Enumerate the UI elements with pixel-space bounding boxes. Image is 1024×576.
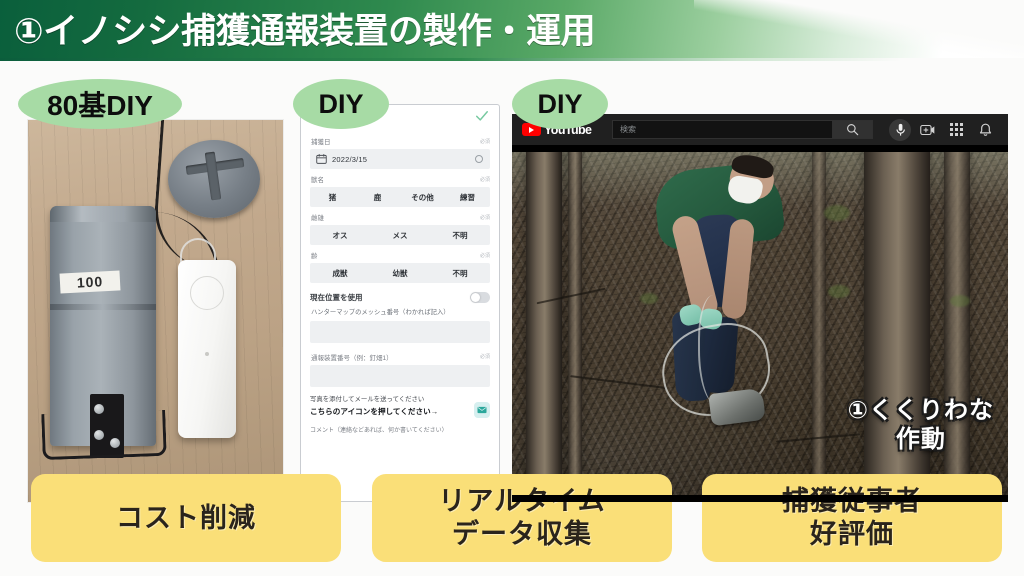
benefit-realtime-line2: データ収集 — [438, 518, 605, 551]
cylinder-rim — [50, 206, 156, 222]
benefits-row: コスト削減 リアルタイム データ収集 捕獲従事者 好評価 — [0, 474, 1024, 566]
page-title: ①イノシシ捕獲通報装置の製作・運用 — [14, 3, 595, 54]
required-note: 必須 — [480, 252, 490, 259]
disc-slot-vertical — [205, 152, 222, 201]
label-text: 齢 — [311, 250, 318, 260]
badge-diy-form: DIY — [293, 79, 389, 129]
mail-icon[interactable] — [474, 402, 490, 418]
search-button[interactable] — [833, 120, 873, 139]
green-sprout — [950, 295, 970, 307]
field-label-sex: 雌雄 必須 — [311, 212, 490, 222]
badge-diy-video: DIY — [512, 79, 608, 129]
mail-glyph — [477, 406, 487, 414]
required-note: 必須 — [480, 176, 490, 183]
benefit-realtime: リアルタイム データ収集 — [372, 474, 672, 562]
video-frame[interactable]: ①くくりわな 作動 — [512, 145, 1008, 502]
benefit-rating-line2: 好評価 — [782, 518, 922, 551]
required-note: 必須 — [480, 138, 490, 145]
species-option-4[interactable]: 練習 — [445, 192, 490, 203]
search-placeholder: 検索 — [620, 124, 636, 135]
youtube-screenshot: YouTube 検索 — [512, 114, 1008, 502]
check-icon[interactable] — [475, 109, 489, 123]
video-caption: ①くくりわな 作動 — [848, 397, 994, 454]
device-number-input[interactable] — [310, 365, 490, 387]
field-label-species: 獣名 必須 — [311, 174, 490, 184]
white-alarm-device — [178, 260, 236, 438]
required-note: 必須 — [480, 214, 490, 221]
create-video-glyph — [920, 124, 935, 136]
grey-disc-part — [168, 140, 260, 218]
age-option-2[interactable]: 幼獣 — [370, 268, 430, 279]
header-underline — [0, 58, 1024, 61]
search-icon — [846, 123, 859, 136]
species-option-2[interactable]: 鹿 — [355, 192, 400, 203]
label-text: 獣名 — [311, 174, 324, 184]
sex-segmented-control[interactable]: オス メス 不明 — [310, 225, 490, 245]
field-label-age: 齢 必須 — [311, 250, 490, 260]
current-location-label: 現在位置を使用 — [310, 292, 363, 303]
video-caption-line2: 作動 — [848, 426, 994, 454]
letterbox-top — [512, 145, 1008, 152]
current-location-toggle[interactable] — [470, 292, 490, 303]
tree-trunk — [526, 145, 562, 488]
bell-icon[interactable] — [972, 119, 998, 141]
capture-date-input[interactable]: 2022/3/15 — [310, 149, 490, 169]
required-note: 必須 — [480, 353, 490, 360]
video-caption-line1: ①くくりわな — [848, 397, 994, 425]
badge-80ki-diy: 80基DIY — [18, 79, 182, 129]
green-sprout — [828, 285, 850, 298]
device-photo: 100 — [28, 120, 283, 502]
trap-plate — [708, 388, 765, 426]
cylinder-legs — [41, 410, 167, 460]
device-number-label-row: 通報装置番号（例：釘畑1） 必須 — [311, 352, 490, 362]
device-number-label: 100 — [60, 270, 121, 293]
panels-row: 100 捕獲日 必須 — [0, 66, 1024, 456]
species-option-3[interactable]: その他 — [400, 192, 445, 203]
letterbox-bottom — [512, 495, 1008, 502]
alarm-dial — [190, 276, 224, 310]
calendar-icon — [316, 154, 327, 164]
label-text: 捕獲日 — [311, 136, 331, 146]
tree-trunk — [568, 145, 582, 488]
apps-grid-icon[interactable] — [943, 119, 969, 141]
label-text: 通報装置番号（例：釘畑1） — [311, 352, 393, 362]
capture-report-form[interactable]: 捕獲日 必須 2022/3/15 獣名 必須 猪 鹿 — [300, 104, 500, 502]
green-sprout — [824, 205, 850, 221]
alarm-indicator-dot — [205, 352, 209, 356]
age-segmented-control[interactable]: 成獣 幼獣 不明 — [310, 263, 490, 283]
benefit-rating: 捕獲従事者 好評価 — [702, 474, 1002, 562]
age-option-3[interactable]: 不明 — [430, 268, 490, 279]
cylinder-seam — [50, 304, 156, 310]
clear-icon[interactable] — [475, 155, 483, 163]
label-text: 雌雄 — [311, 212, 324, 222]
youtube-search-area[interactable]: 検索 — [612, 120, 873, 139]
sex-option-2[interactable]: メス — [370, 230, 430, 241]
current-location-row[interactable]: 現在位置を使用 — [310, 292, 490, 303]
mesh-number-input[interactable] — [310, 321, 490, 343]
snare-wire-line — [698, 295, 736, 405]
mic-glyph — [895, 123, 906, 137]
mail-instruction-line2: こちらのアイコンを押してください→ — [310, 406, 469, 417]
comment-field-label: コメント（連絡などあれば、何か書いてください） — [310, 425, 490, 434]
sex-option-1[interactable]: オス — [310, 230, 370, 241]
mail-instruction-row: 写真を添付してメールを送ってください こちらのアイコンを押してください→ — [310, 396, 490, 418]
benefit-cost: コスト削減 — [31, 474, 341, 562]
search-input[interactable]: 検索 — [612, 120, 833, 139]
bell-glyph — [979, 123, 992, 137]
field-label-capture-date: 捕獲日 必須 — [311, 136, 490, 146]
species-segmented-control[interactable]: 猪 鹿 その他 練習 — [310, 187, 490, 207]
sex-option-3[interactable]: 不明 — [430, 230, 490, 241]
capture-date-value: 2022/3/15 — [332, 155, 367, 164]
create-video-icon[interactable] — [914, 119, 940, 141]
benefit-cost-line1: コスト削減 — [116, 502, 256, 535]
mail-instruction-line1: 写真を添付してメールを送ってください — [310, 396, 469, 404]
mic-icon[interactable] — [889, 119, 911, 141]
mesh-number-label: ハンターマップのメッシュ番号（わかれば記入） — [311, 309, 490, 318]
toggle-knob — [471, 293, 480, 302]
species-option-1[interactable]: 猪 — [310, 192, 355, 203]
apps-grid-glyph — [950, 123, 963, 136]
age-option-1[interactable]: 成獣 — [310, 268, 370, 279]
